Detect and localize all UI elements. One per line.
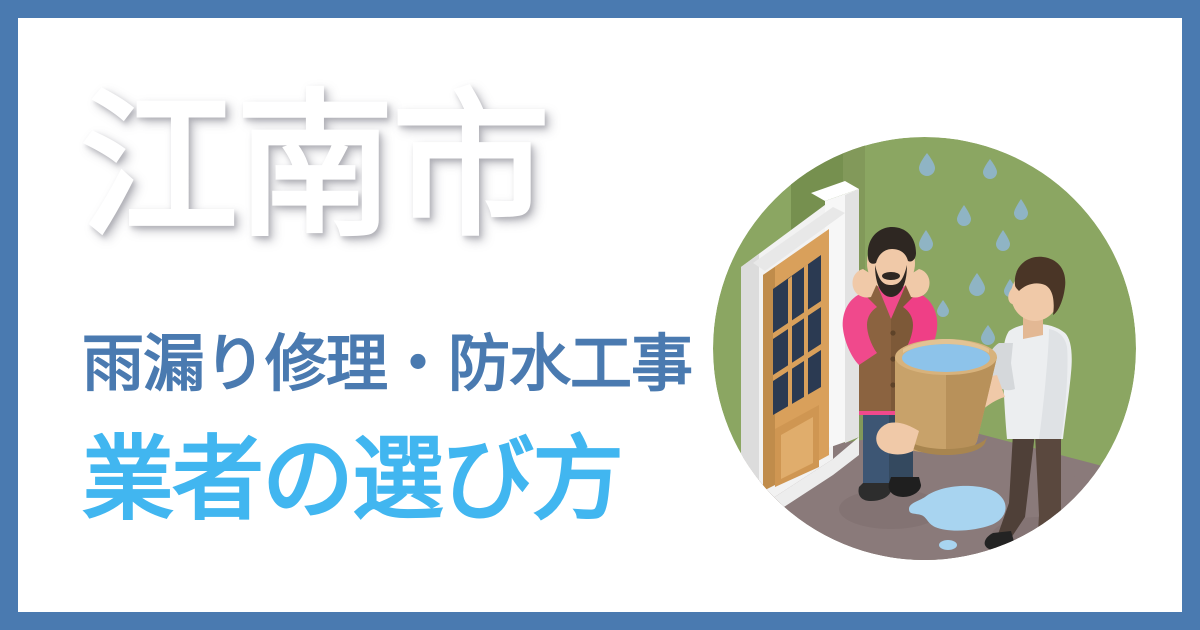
text-block: 江南市 雨漏り修理・防水工事 業者の選び方: [60, 62, 720, 522]
distressed-man-mustache: [882, 272, 900, 280]
door-mullion-1: [788, 276, 792, 409]
door-mullion-2: [804, 264, 808, 400]
illustration-roof-leak: [713, 137, 1136, 560]
floor-puddle-droplet: [939, 540, 957, 550]
vest-button: [890, 382, 895, 387]
banner-inner-panel: 江南市 雨漏り修理・防水工事 業者の選び方: [18, 18, 1182, 612]
vest-button: [890, 330, 895, 335]
door-outer-trim-left-shade: [741, 254, 759, 519]
headline-main: 業者の選び方: [82, 434, 622, 526]
banner-root: 江南市 雨漏り修理・防水工事 業者の選び方: [0, 0, 1200, 630]
floor-puddle-droplet-2: [989, 511, 1001, 519]
bucket-man-shoe-front: [1028, 537, 1061, 558]
bucket-water-surface: [902, 344, 990, 372]
bucket-man-leg-front: [1035, 433, 1061, 549]
subtitle-service: 雨漏り修理・防水工事: [82, 334, 692, 396]
page-title-city: 江南市: [80, 88, 548, 246]
illustration-scene: [713, 137, 1136, 560]
vest-button: [890, 356, 895, 361]
